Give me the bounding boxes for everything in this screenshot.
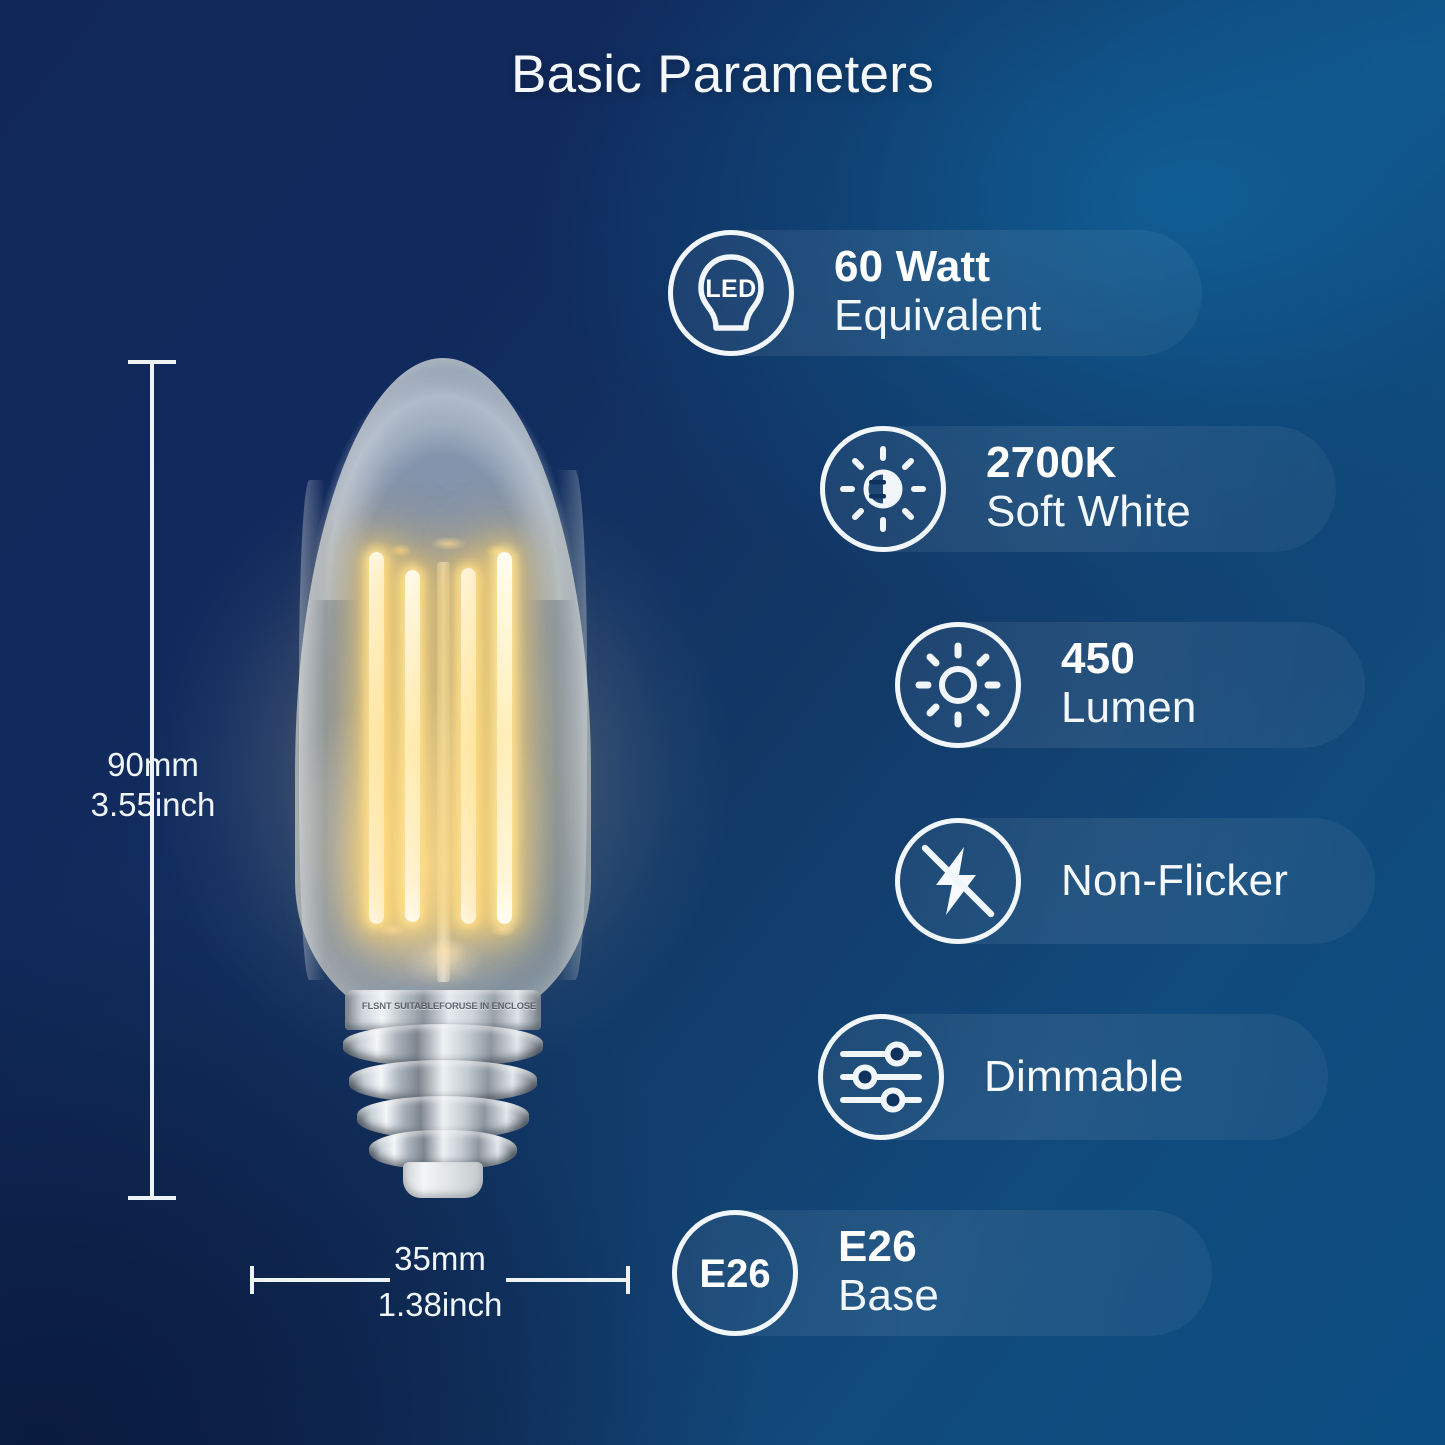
led-bulb-icon: LED bbox=[668, 230, 794, 356]
spec-row-lumen: 450 Lumen bbox=[895, 622, 1365, 748]
spec-label: Equivalent bbox=[834, 290, 1041, 342]
spec-label: Soft White bbox=[986, 486, 1191, 538]
e26-icon-label: E26 bbox=[699, 1252, 770, 1296]
spec-row-wattage: LED 60 Watt Equivalent bbox=[668, 230, 1202, 356]
spec-text-base-type: E26 Base bbox=[838, 1224, 939, 1323]
spec-row-non-flicker: Non-Flicker bbox=[895, 818, 1375, 944]
spec-text-non-flicker: Non-Flicker bbox=[1061, 856, 1288, 906]
spec-text-lumen: 450 Lumen bbox=[1061, 636, 1197, 735]
spec-row-dimmable: Dimmable bbox=[818, 1014, 1328, 1140]
spec-row-base-type: E26 E26 Base bbox=[672, 1210, 1212, 1336]
spec-row-color-temperature: 2700K Soft White bbox=[820, 426, 1336, 552]
no-flicker-bolt-icon bbox=[895, 818, 1021, 944]
spec-text-color-temperature: 2700K Soft White bbox=[986, 440, 1191, 539]
color-temperature-icon bbox=[820, 426, 946, 552]
spec-value: E26 bbox=[838, 1224, 939, 1271]
spec-value: 450 bbox=[1061, 636, 1197, 683]
spec-text-wattage: 60 Watt Equivalent bbox=[834, 244, 1041, 343]
spec-value: 2700K bbox=[986, 440, 1191, 487]
spec-label: Non-Flicker bbox=[1061, 856, 1288, 906]
led-icon-label: LED bbox=[705, 275, 756, 303]
brightness-sun-icon bbox=[895, 622, 1021, 748]
spec-label: Dimmable bbox=[984, 1052, 1184, 1102]
spec-list: LED 60 Watt Equivalent bbox=[0, 0, 1445, 1445]
spec-label: Lumen bbox=[1061, 682, 1197, 734]
spec-value: 60 Watt bbox=[834, 244, 1041, 291]
dimmer-sliders-icon bbox=[818, 1014, 944, 1140]
spec-text-dimmable: Dimmable bbox=[984, 1052, 1184, 1102]
spec-label: Base bbox=[838, 1270, 939, 1322]
e26-base-icon: E26 bbox=[672, 1210, 798, 1336]
